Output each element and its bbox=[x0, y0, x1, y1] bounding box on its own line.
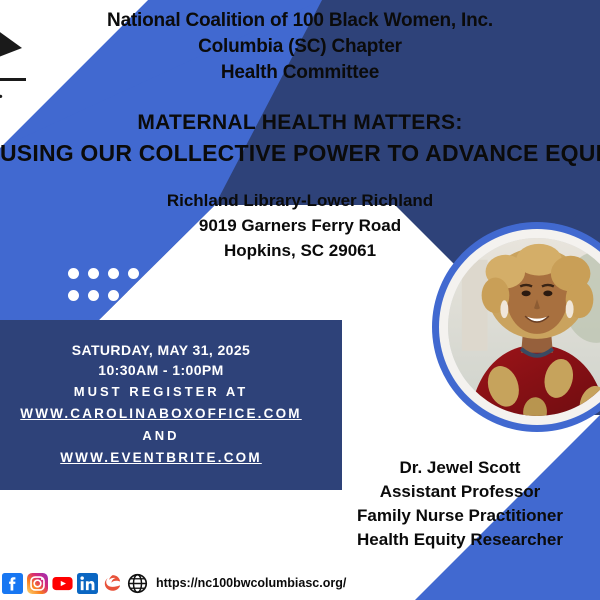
speaker-role-1: Assistant Professor bbox=[300, 480, 600, 504]
dot bbox=[108, 268, 119, 279]
footer-bar: https://nc100bwcolumbiasc.org/ bbox=[0, 570, 346, 596]
registration-text-group: SATURDAY, MAY 31, 2025 10:30AM - 1:00PM … bbox=[0, 340, 342, 469]
event-title-main: MATERNAL HEALTH MATTERS: bbox=[0, 108, 600, 138]
dot bbox=[128, 268, 139, 279]
instagram-icon[interactable] bbox=[27, 573, 48, 594]
registration-url-carolinaboxoffice[interactable]: WWW.CAROLINABOXOFFICE.COM bbox=[0, 403, 342, 425]
registration-conjunction: AND bbox=[0, 425, 342, 447]
globe-icon[interactable] bbox=[127, 573, 148, 594]
speaker-credits: Dr. Jewel Scott Assistant Professor Fami… bbox=[300, 456, 600, 552]
organization-header: National Coalition of 100 Black Women, I… bbox=[0, 8, 600, 86]
edge-icon[interactable] bbox=[102, 573, 123, 594]
speaker-portrait bbox=[432, 222, 600, 432]
registration-url-eventbrite[interactable]: WWW.EVENTBRITE.COM bbox=[0, 447, 342, 469]
dot-grid-decoration bbox=[68, 268, 148, 312]
dot bbox=[68, 268, 79, 279]
speaker-name: Dr. Jewel Scott bbox=[300, 456, 600, 480]
dot bbox=[88, 268, 99, 279]
event-date: SATURDAY, MAY 31, 2025 bbox=[0, 340, 342, 360]
dot bbox=[108, 290, 119, 301]
logo-text-w: W. bbox=[0, 81, 3, 103]
event-flyer: SATURDAY, MAY 31, 2025 10:30AM - 1:00PM … bbox=[0, 0, 600, 600]
website-url[interactable]: https://nc100bwcolumbiasc.org/ bbox=[156, 576, 346, 590]
event-title-block: MATERNAL HEALTH MATTERS: USING OUR COLLE… bbox=[0, 108, 600, 168]
facebook-icon[interactable] bbox=[2, 573, 23, 594]
linkedin-icon[interactable] bbox=[77, 573, 98, 594]
registration-panel: SATURDAY, MAY 31, 2025 10:30AM - 1:00PM … bbox=[0, 320, 342, 490]
org-name-line2: Columbia (SC) Chapter bbox=[0, 34, 600, 60]
speaker-role-2: Family Nurse Practitioner bbox=[300, 504, 600, 528]
dot bbox=[68, 290, 79, 301]
register-instruction: MUST REGISTER AT bbox=[0, 381, 342, 403]
speaker-role-3: Health Equity Researcher bbox=[300, 528, 600, 552]
org-name-line1: National Coalition of 100 Black Women, I… bbox=[0, 8, 600, 34]
dot bbox=[128, 290, 139, 301]
event-title-sub: USING OUR COLLECTIVE POWER TO ADVANCE EQ… bbox=[0, 138, 600, 168]
dot bbox=[88, 290, 99, 301]
youtube-icon[interactable] bbox=[52, 573, 73, 594]
organization-logo: W. 0 bbox=[0, 2, 60, 110]
venue-name: Richland Library-Lower Richland bbox=[0, 188, 600, 213]
org-name-line3: Health Committee bbox=[0, 60, 600, 86]
event-time: 10:30AM - 1:00PM bbox=[0, 360, 342, 381]
